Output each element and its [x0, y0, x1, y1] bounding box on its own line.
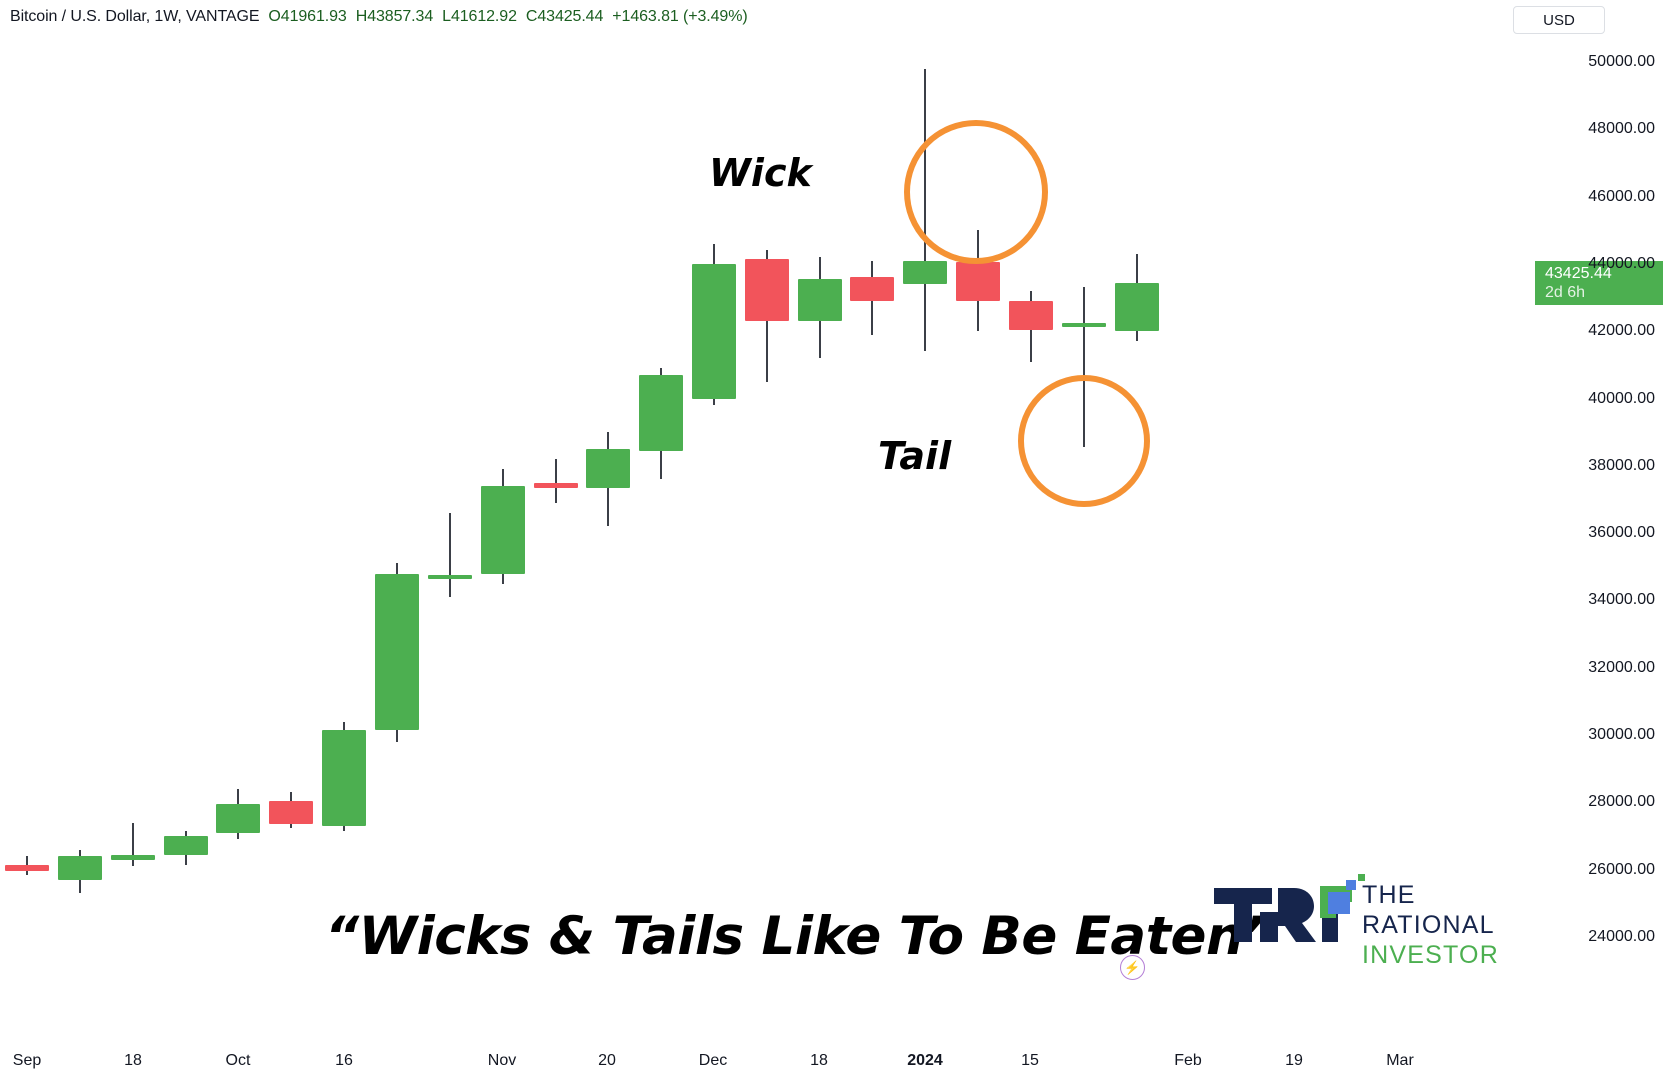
time-tick: 18 [124, 1052, 142, 1070]
candlestick[interactable] [375, 563, 419, 741]
candle-body [745, 259, 789, 321]
candle-body [798, 279, 842, 321]
candle-body [1062, 323, 1106, 327]
price-tick: 24000.00 [1588, 928, 1655, 946]
chart-legend[interactable]: Bitcoin / U.S. Dollar, 1W, VANTAGEO41961… [10, 8, 748, 26]
candle-body [534, 483, 578, 488]
candle-body [1115, 283, 1159, 331]
time-tick: Sep [13, 1052, 41, 1070]
candlestick[interactable] [639, 368, 683, 479]
candlestick[interactable] [481, 469, 525, 583]
price-tick: 46000.00 [1588, 188, 1655, 206]
tail-annotation-circle [1018, 375, 1150, 507]
time-tick: 19 [1285, 1052, 1303, 1070]
candle-body [692, 264, 736, 399]
candlestick[interactable] [745, 250, 789, 381]
candle-body [850, 277, 894, 301]
candle-body [375, 574, 419, 730]
candlestick[interactable] [692, 244, 736, 406]
legend-high-value: 43857.34 [367, 8, 433, 25]
legend-low-value: 41612.92 [451, 8, 517, 25]
candle-body [586, 449, 630, 488]
candlestick[interactable] [850, 261, 894, 335]
time-tick: 2024 [907, 1052, 943, 1070]
candle-body [58, 856, 102, 880]
price-tick: 34000.00 [1588, 591, 1655, 609]
price-tick: 26000.00 [1588, 861, 1655, 879]
candlestick[interactable] [164, 831, 208, 865]
time-tick: 20 [598, 1052, 616, 1070]
time-tick: Feb [1174, 1052, 1202, 1070]
time-tick: Nov [488, 1052, 516, 1070]
price-tick: 42000.00 [1588, 322, 1655, 340]
price-tick: 50000.00 [1588, 53, 1655, 71]
candlestick[interactable] [428, 513, 472, 597]
candlestick[interactable] [5, 856, 49, 875]
brand-logo: THE RATIONAL INVESTOR [1210, 868, 1482, 964]
currency-selector[interactable]: USD [1513, 6, 1605, 34]
legend-open-value: 41961.93 [281, 8, 347, 25]
time-tick: 16 [335, 1052, 353, 1070]
price-scale[interactable]: USD 43425.44 2d 6h 50000.0048000.0046000… [1467, 0, 1663, 1050]
candle-wick [555, 459, 557, 503]
candle-body [164, 836, 208, 855]
legend-low: L41612.92 [442, 8, 517, 25]
candlestick[interactable] [1009, 291, 1053, 362]
candlestick[interactable] [216, 789, 260, 839]
price-tick: 28000.00 [1588, 793, 1655, 811]
candle-body [5, 865, 49, 872]
price-tick: 32000.00 [1588, 659, 1655, 677]
price-tick: 30000.00 [1588, 726, 1655, 744]
candlestick[interactable] [534, 459, 578, 503]
legend-change: +1463.81 (+3.49%) [612, 8, 747, 25]
tail-annotation-label: Tail [878, 434, 951, 478]
candle-body [956, 262, 1000, 301]
candle-body [322, 730, 366, 826]
lightning-icon[interactable]: ⚡ [1120, 955, 1145, 980]
time-tick: 18 [810, 1052, 828, 1070]
candle-body [216, 804, 260, 833]
legend-high-key: H [356, 8, 367, 25]
legend-close-value: 43425.44 [537, 8, 603, 25]
candlestick[interactable] [111, 823, 155, 867]
bar-countdown: 2d 6h [1545, 283, 1663, 302]
legend-close-key: C [526, 8, 537, 25]
legend-close: C43425.44 [526, 8, 603, 25]
price-tick: 48000.00 [1588, 120, 1655, 138]
candle-wick [132, 823, 134, 867]
price-tick: 36000.00 [1588, 524, 1655, 542]
price-tick: 38000.00 [1588, 457, 1655, 475]
price-tick: 40000.00 [1588, 390, 1655, 408]
candle-body [269, 801, 313, 825]
wick-annotation-label: Wick [709, 151, 812, 195]
candle-body [1009, 301, 1053, 330]
price-tick: 44000.00 [1588, 255, 1655, 273]
candle-body [639, 375, 683, 451]
candlestick[interactable] [322, 722, 366, 831]
candlestick[interactable] [798, 257, 842, 358]
wick-annotation-circle [904, 120, 1048, 264]
time-tick: Dec [699, 1052, 727, 1070]
candlestick[interactable] [269, 792, 313, 827]
candlestick[interactable] [586, 432, 630, 526]
time-scale[interactable]: Sep18Oct16Nov20Dec18202415Feb19Mar [0, 1044, 1467, 1080]
tri-logo-mark-icon [1210, 868, 1370, 948]
time-tick: Oct [226, 1052, 251, 1070]
candle-body [111, 855, 155, 860]
time-tick: Mar [1386, 1052, 1414, 1070]
candlestick[interactable] [58, 850, 102, 894]
legend-open: O41961.93 [268, 8, 346, 25]
chart-screenshot: Bitcoin / U.S. Dollar, 1W, VANTAGEO41961… [0, 0, 1663, 1080]
legend-high: H43857.34 [356, 8, 433, 25]
legend-low-key: L [442, 8, 451, 25]
candlestick[interactable] [1115, 254, 1159, 342]
candle-wick [449, 513, 451, 597]
time-tick: 15 [1021, 1052, 1039, 1070]
candle-body [481, 486, 525, 574]
candle-body [903, 261, 947, 285]
candle-body [428, 575, 472, 579]
legend-open-key: O [268, 8, 280, 25]
legend-symbol[interactable]: Bitcoin / U.S. Dollar, 1W, VANTAGE [10, 8, 259, 25]
